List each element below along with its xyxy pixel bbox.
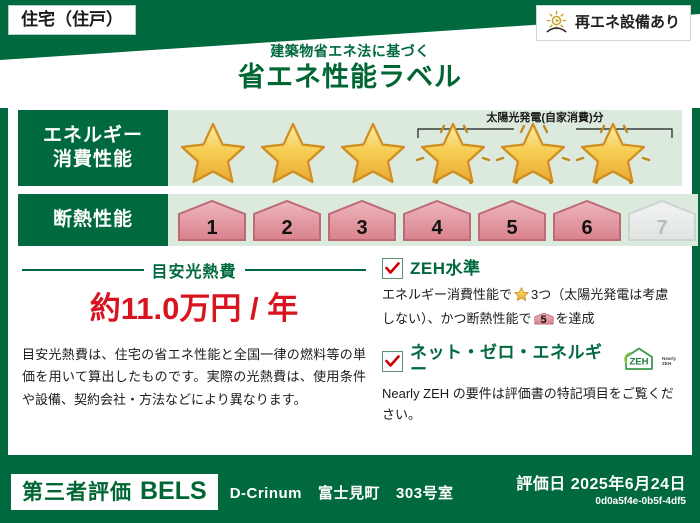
- insulation-level-2-number: 2: [251, 218, 323, 238]
- net-zero-energy-title: ネット・ゼロ・エネルギー: [410, 344, 611, 378]
- star-5-pv: [494, 118, 572, 184]
- detail-columns: 目安光熱費 約11.0万円 / 年 目安光熱費は、住宅の省エネ性能と全国一律の燃…: [8, 256, 692, 431]
- zeh-logo-icon: ZEH Nearly ZEH: [622, 346, 678, 377]
- star-icon: [334, 118, 412, 184]
- insulation-level-7-number: 7: [626, 218, 698, 238]
- zeh-body-part1: エネルギー消費性能で: [382, 287, 512, 302]
- evaluation-info: 評価日 2025年6月24日 0d0a5f4e-0b5f-4df5: [516, 476, 686, 508]
- star-icon: [513, 286, 530, 302]
- star-icon: [574, 118, 652, 184]
- zeh-standard-title: ZEH水準: [410, 260, 481, 277]
- rule-right: [245, 269, 367, 271]
- net-zero-energy-body: Nearly ZEH の要件は評価書の特記項目をご覧ください。: [382, 383, 678, 425]
- bels-energy-label: 建築物省エネ法に基づく 省エネ性能ラベル 住宅（住戸） 再エネ設備あり エネルギ…: [0, 0, 700, 523]
- insulation-level-4-number: 4: [401, 218, 473, 238]
- energy-performance-body: 太陽光発電(自家消費)分: [168, 110, 682, 186]
- insulation-performance-row: 断熱性能: [18, 194, 682, 246]
- insulation-level-6: 6: [551, 198, 623, 242]
- energy-performance-label-line1: エネルギー: [43, 124, 143, 148]
- insulation-level-1: 1: [176, 198, 248, 242]
- checkbox-checked: [382, 351, 403, 372]
- energy-performance-label-line2: 消費性能: [53, 148, 133, 172]
- energy-performance-row: エネルギー 消費性能 太陽光発電(自家消費)分: [18, 110, 682, 186]
- star-4-pv: [414, 118, 492, 184]
- star-icon: [494, 118, 572, 184]
- zeh-standard-body: エネルギー消費性能で3つ（太陽光発電は考慮しない）、かつ断熱性能で5を達成: [382, 284, 678, 329]
- rule-left: [22, 269, 144, 271]
- zeh-house-logo: ZEH Nearly ZEH: [622, 346, 678, 372]
- building-room: 303号室: [396, 482, 454, 503]
- inline-house-badge-icon: 5: [534, 310, 554, 327]
- insulation-level-scale: 1 2 3: [176, 198, 698, 242]
- inline-house-level: 5: [534, 315, 554, 326]
- bels-jp-label: 第三者評価: [22, 482, 132, 503]
- star-icon: [254, 118, 332, 184]
- zeh-standard-item: ZEH水準 エネルギー消費性能で3つ（太陽光発電は考慮しない）、かつ断熱性能で5…: [382, 258, 678, 329]
- sun-icon: [544, 10, 569, 35]
- svg-text:ZEH: ZEH: [662, 361, 672, 366]
- utility-cost-heading: 目安光熱費: [22, 258, 366, 282]
- zeh-body-part2: を達成: [556, 311, 595, 326]
- star-1: [174, 118, 252, 184]
- utility-cost-heading-text: 目安光熱費: [152, 258, 237, 282]
- insulation-performance-body: 1 2 3: [168, 194, 698, 246]
- inline-star-icon: [513, 286, 530, 308]
- zeh-standard-head: ZEH水準: [382, 258, 678, 279]
- star-icon: [414, 118, 492, 184]
- bels-badge: 第三者評価 BELS: [11, 474, 218, 510]
- svg-text:ZEH: ZEH: [630, 356, 649, 367]
- utility-cost-value: 約11.0万円 / 年: [22, 292, 366, 326]
- net-zero-energy-item: ネット・ゼロ・エネルギー ZEH Nearly ZEH Nearly ZEH の…: [382, 344, 678, 425]
- insulation-level-5: 5: [476, 198, 548, 242]
- insulation-level-2: 2: [251, 198, 323, 242]
- insulation-level-1-number: 1: [176, 218, 248, 238]
- insulation-performance-label: 断熱性能: [18, 194, 168, 246]
- star-rating: [174, 118, 652, 184]
- building-area: 富士見町: [318, 482, 380, 503]
- insulation-level-5-number: 5: [476, 218, 548, 238]
- renewable-badge-label: 再エネ設備あり: [575, 15, 680, 30]
- insulation-label-text: 断熱性能: [53, 208, 133, 232]
- check-icon: [385, 355, 400, 368]
- energy-performance-label: エネルギー 消費性能: [18, 110, 168, 186]
- utility-cost-note: 目安光熱費は、住宅の省エネ性能と全国一律の燃料等の単価を用いて算出したものです。…: [22, 344, 366, 411]
- insulation-level-4: 4: [401, 198, 473, 242]
- star-icon: [174, 118, 252, 184]
- insulation-level-6-number: 6: [551, 218, 623, 238]
- evaluation-id: 0d0a5f4e-0b5f-4df5: [516, 495, 686, 508]
- star-3: [334, 118, 412, 184]
- utility-cost-column: 目安光熱費 約11.0万円 / 年 目安光熱費は、住宅の省エネ性能と全国一律の燃…: [8, 256, 378, 431]
- building-name: D-Crinum: [230, 485, 302, 502]
- star-2: [254, 118, 332, 184]
- check-icon: [385, 262, 400, 275]
- checkbox-checked: [382, 258, 403, 279]
- insulation-level-3: 3: [326, 198, 398, 242]
- bels-en-label: BELS: [140, 479, 207, 504]
- renewable-energy-badge: 再エネ設備あり: [536, 5, 691, 41]
- star-6-pv: [574, 118, 652, 184]
- certification-column: ZEH水準 エネルギー消費性能で3つ（太陽光発電は考慮しない）、かつ断熱性能で5…: [378, 256, 692, 431]
- net-zero-energy-head: ネット・ゼロ・エネルギー ZEH Nearly ZEH: [382, 344, 678, 378]
- evaluation-date: 評価日 2025年6月24日: [516, 476, 686, 494]
- label-card: エネルギー 消費性能 太陽光発電(自家消費)分: [8, 98, 692, 455]
- insulation-level-7: 7: [626, 198, 698, 242]
- footer-bar: 第三者評価 BELS D-Crinum 富士見町 303号室 評価日 2025年…: [0, 461, 700, 523]
- category-tag: 住宅（住戸）: [8, 5, 136, 35]
- insulation-level-3-number: 3: [326, 218, 398, 238]
- building-info: D-Crinum 富士見町 303号室: [230, 482, 454, 503]
